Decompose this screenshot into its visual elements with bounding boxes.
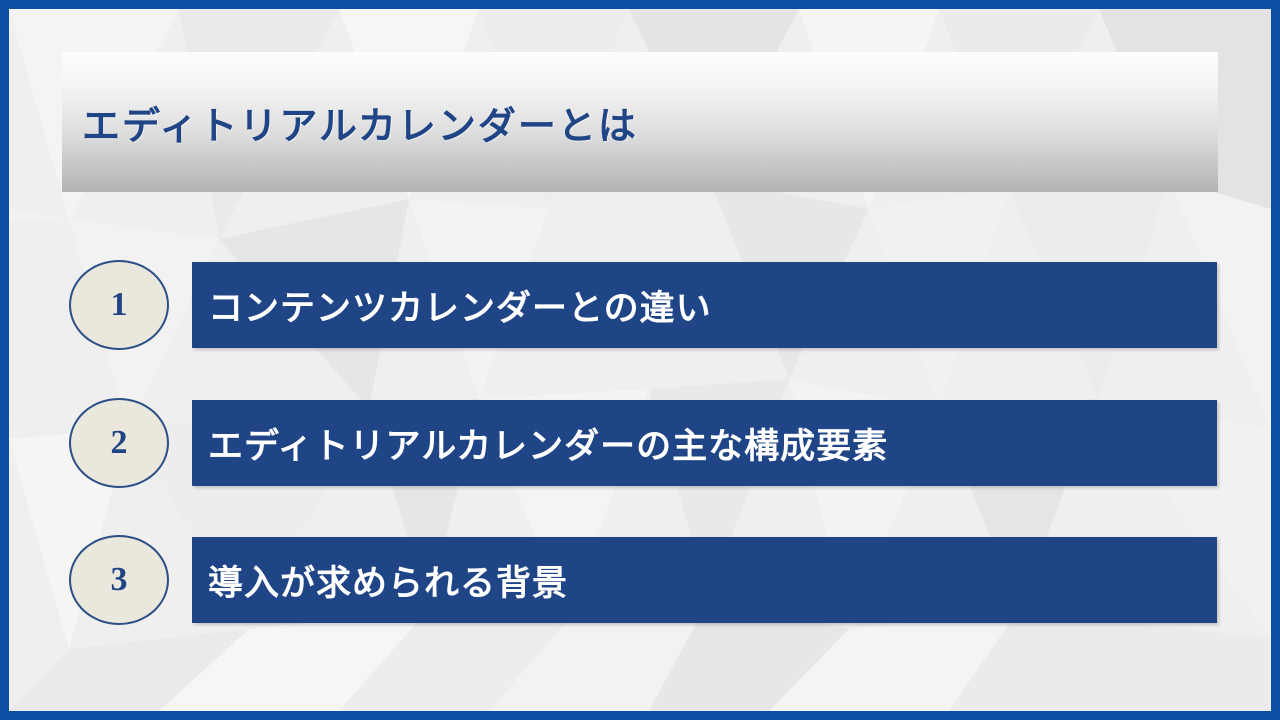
slide-title-bar: エディトリアルカレンダーとは [62, 52, 1218, 192]
agenda-number-3: 3 [111, 563, 128, 597]
agenda-number-1: 1 [111, 288, 128, 322]
page-title: エディトリアルカレンダーとは [82, 95, 638, 150]
agenda-item-3[interactable]: 3 導入が求められる背景 [9, 528, 1271, 632]
agenda-bar-1[interactable]: コンテンツカレンダーとの違い [192, 262, 1217, 348]
agenda-bar-3[interactable]: 導入が求められる背景 [192, 537, 1217, 623]
slide-canvas: エディトリアルカレンダーとは 1 コンテンツカレンダーとの違い 2 エディトリア… [9, 9, 1271, 711]
agenda-label-3: 導入が求められる背景 [208, 555, 568, 606]
agenda-bar-2[interactable]: エディトリアルカレンダーの主な構成要素 [192, 400, 1217, 486]
agenda-item-2[interactable]: 2 エディトリアルカレンダーの主な構成要素 [9, 391, 1271, 495]
agenda-number-badge-1: 1 [69, 260, 169, 350]
agenda-number-2: 2 [111, 426, 128, 460]
agenda-label-1: コンテンツカレンダーとの違い [208, 280, 712, 331]
agenda-number-badge-3: 3 [69, 535, 169, 625]
slide-frame: エディトリアルカレンダーとは 1 コンテンツカレンダーとの違い 2 エディトリア… [0, 0, 1280, 720]
agenda-item-1[interactable]: 1 コンテンツカレンダーとの違い [9, 253, 1271, 357]
agenda-number-badge-2: 2 [69, 398, 169, 488]
agenda-label-2: エディトリアルカレンダーの主な構成要素 [208, 418, 888, 469]
